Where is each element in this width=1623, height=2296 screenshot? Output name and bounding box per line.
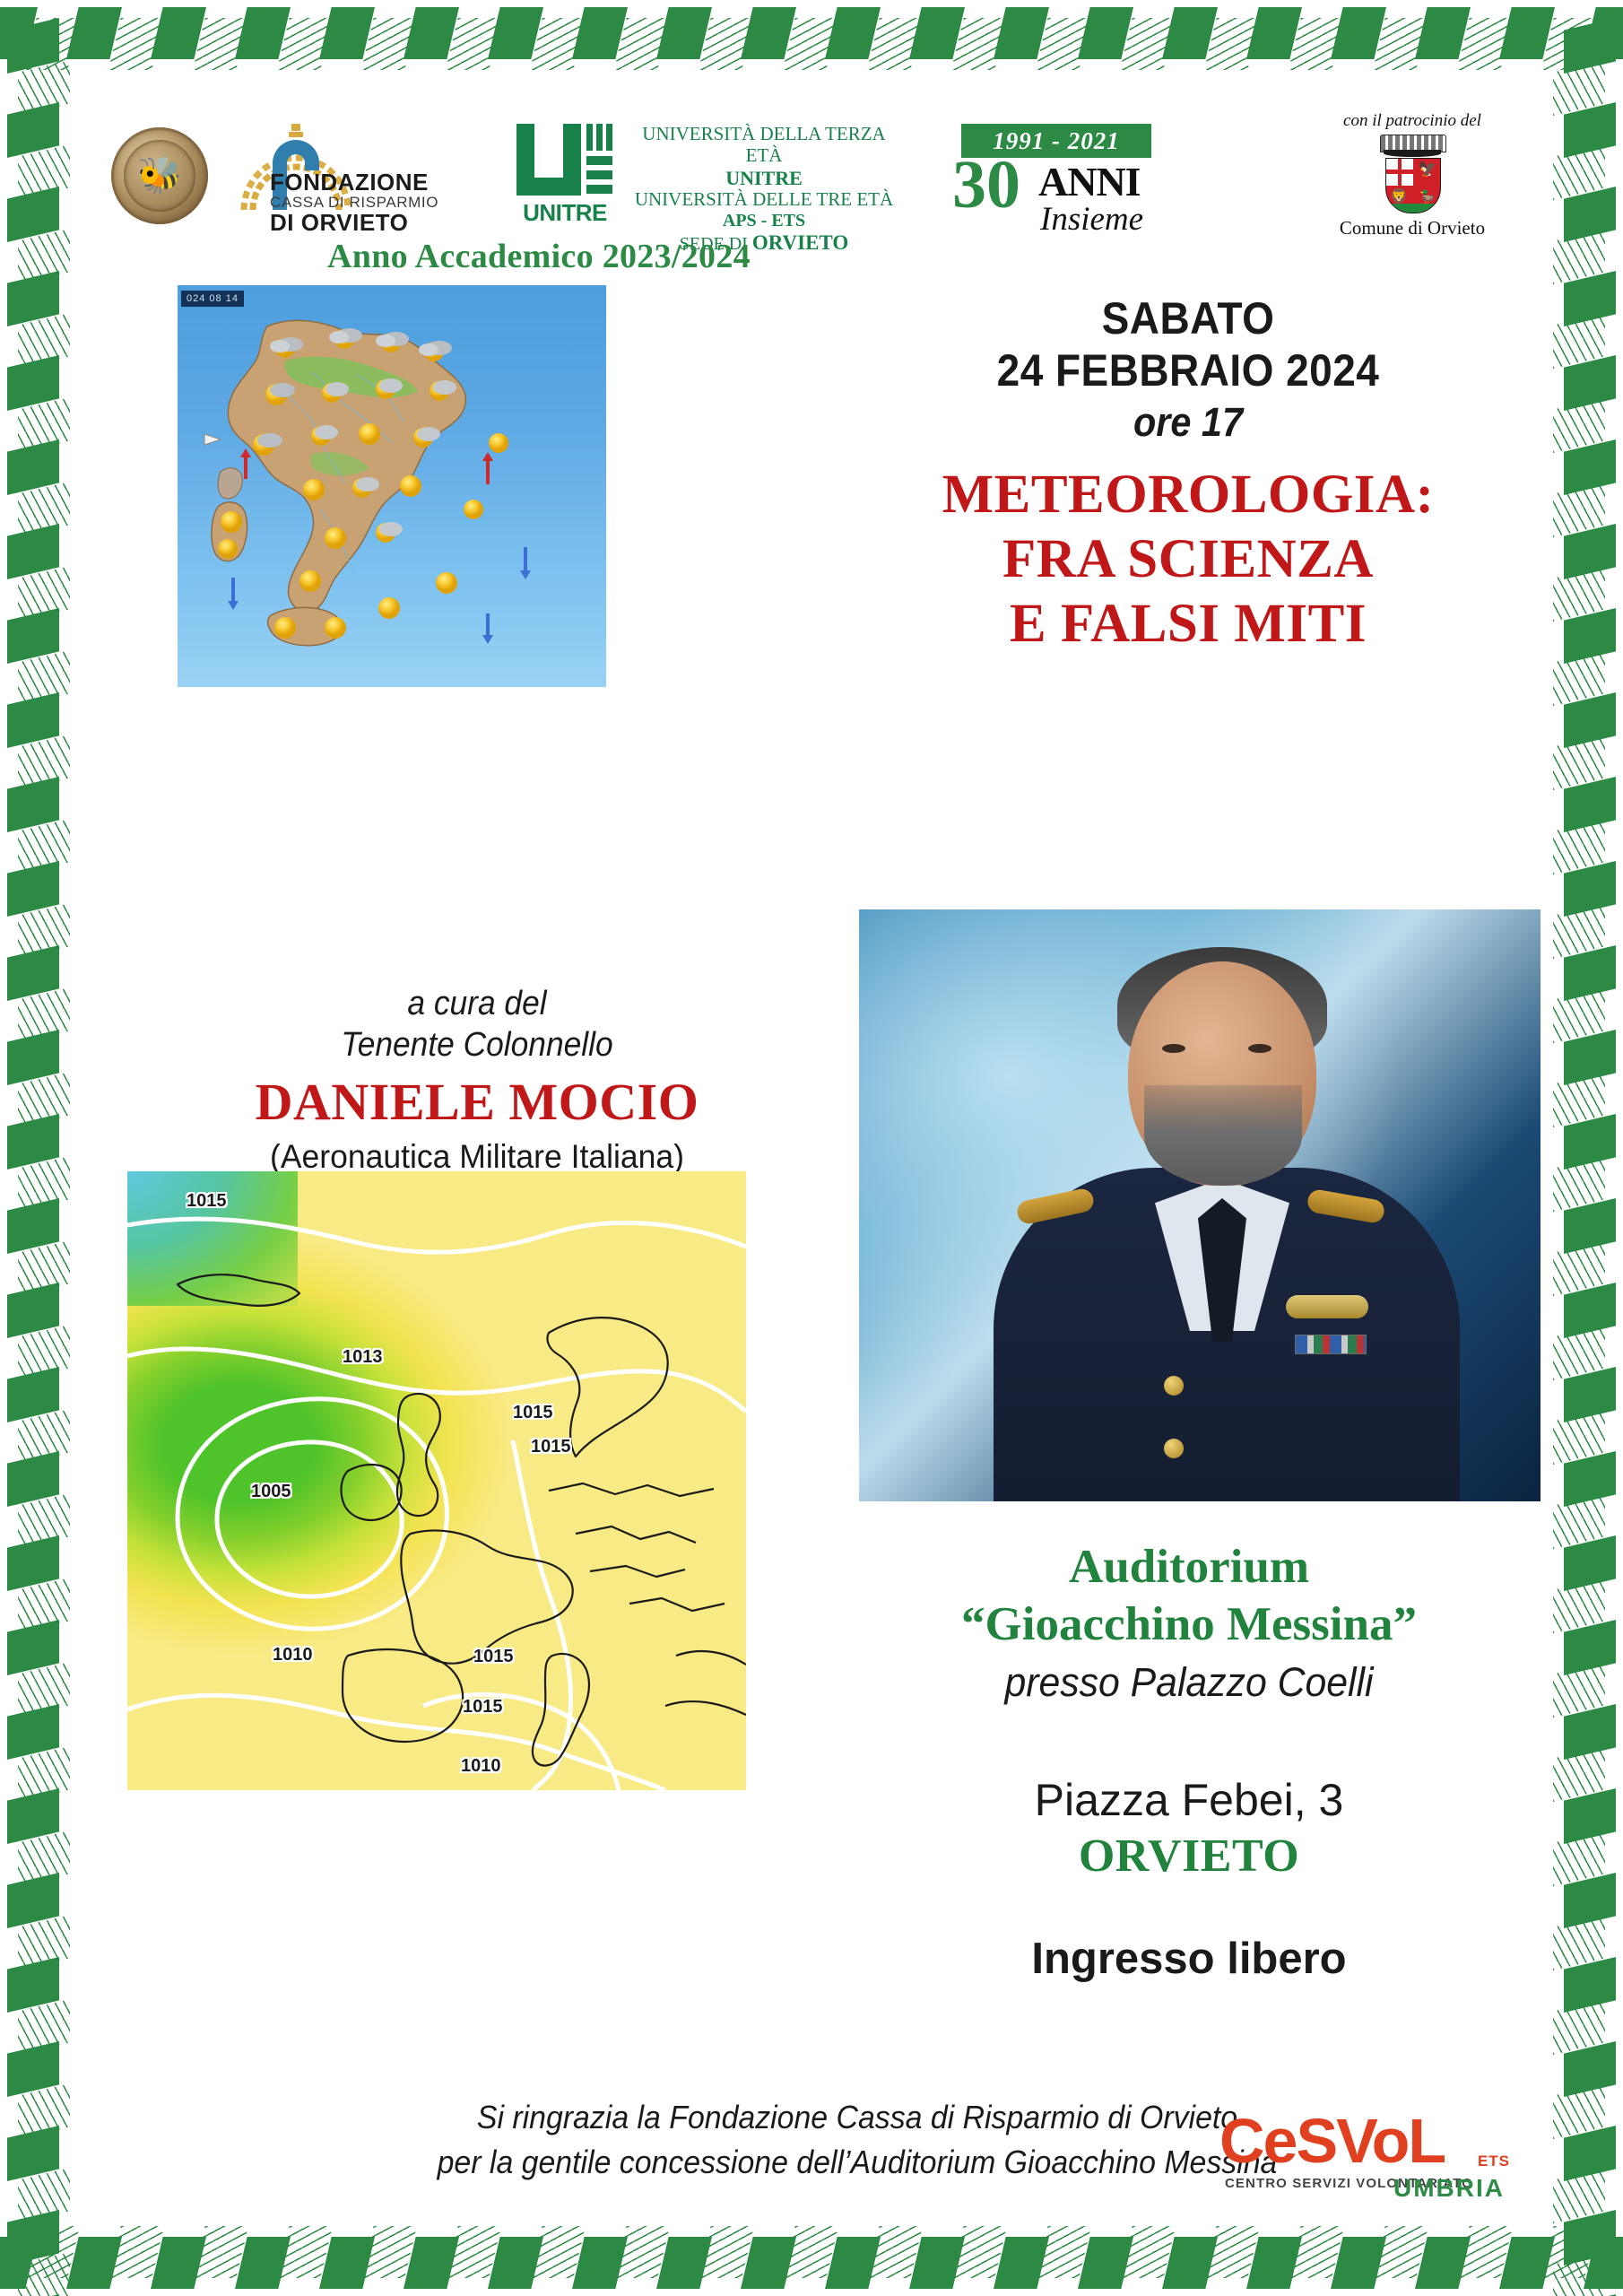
unitre-line3: UNIVERSITÀ DELLE TRE ETÀ [624, 189, 904, 211]
border-left [0, 0, 75, 2296]
unitre-logo: UNITRE [515, 122, 615, 230]
cesvol-ets: ETS [1478, 2152, 1510, 2170]
event-title-line3: E FALSI MITI [839, 592, 1537, 657]
fondazione-line1: FONDAZIONE [270, 170, 438, 195]
anniversary-anni: ANNI [1038, 161, 1141, 203]
venue-address: Piazza Febei, 3 ORVIETO [830, 1772, 1548, 1885]
academic-year: Anno Accademico 2023/2024 [86, 237, 992, 276]
sponsor-logo-row: 🐝 FONDAZIONE CASSA DI [86, 111, 1537, 228]
border-right [1548, 0, 1623, 2296]
isobar-label: 1015 [463, 1697, 503, 1718]
unitre-line1: UNIVERSITÀ DELLA TERZA ETÀ [624, 124, 904, 167]
speaker-portrait-image [859, 909, 1541, 1501]
event-title-line1: METEOROLOGIA: [839, 463, 1537, 527]
patronage-entity: Comune di Orvieto [1300, 217, 1524, 239]
unitre-fulltext: UNIVERSITÀ DELLA TERZA ETÀ UNITRE UNIVER… [624, 124, 904, 255]
event-title: METEOROLOGIA: FRA SCIENZA E FALSI MITI [839, 463, 1537, 657]
unitre-wordmark: UNITRE [515, 199, 615, 227]
event-time: ore 17 [867, 396, 1509, 449]
speaker-intro-line2: Tenente Colonnello [161, 1024, 794, 1065]
italy-weather-map-image: 024 08 14 [178, 285, 606, 687]
cesvol-logo: CeSVoL ETS CENTRO SERVIZI VOLONTARIATO U… [1219, 2097, 1515, 2205]
event-title-line2: FRA SCIENZA [839, 527, 1537, 592]
venue-name-line1: Auditorium [830, 1539, 1548, 1596]
cesvol-region: UMBRIA [1393, 2174, 1505, 2203]
event-weekday: SABATO [867, 292, 1509, 344]
border-chevron [1553, 2252, 1605, 2296]
entry-notice: Ingresso libero [830, 1934, 1548, 1984]
patronage-caption: con il patrocinio del [1300, 111, 1524, 131]
fondazione-line3: DI ORVIETO [270, 211, 438, 235]
poster-root: 🐝 FONDAZIONE CASSA DI [0, 0, 1623, 2296]
venue-block: Auditorium “Gioacchino Messina” presso P… [830, 1539, 1548, 1709]
patronage-block: con il patrocinio del 🦅 🦁 🦆 Comune di Or… [1300, 111, 1524, 239]
venue-street: Piazza Febei, 3 [830, 1772, 1548, 1828]
anniversary-number: 30 [952, 151, 1020, 219]
border-bottom [0, 2221, 1623, 2296]
cesvol-wordmark: CeSVoL [1219, 2109, 1445, 2172]
venue-name-line2: “Gioacchino Messina” [830, 1596, 1548, 1654]
event-date: 24 FEBBRAIO 2024 [867, 344, 1509, 396]
speaker-name: DANIELE MOCIO [136, 1070, 818, 1135]
border-chevron [18, 2252, 70, 2296]
border-top [0, 0, 1623, 75]
speaker-block: a cura del Tenente Colonnello DANIELE MO… [136, 983, 818, 1178]
isobar-label: 1013 [343, 1347, 383, 1368]
isobar-label: 1015 [473, 1647, 514, 1667]
isobar-label: 1010 [461, 1756, 501, 1777]
venue-location: presso Palazzo Coelli [848, 1657, 1530, 1709]
isobar-label: 1005 [251, 1482, 291, 1502]
speaker-intro-line1: a cura del [161, 983, 794, 1024]
poster-content: 🐝 FONDAZIONE CASSA DI [86, 86, 1537, 2210]
event-date-block: SABATO 24 FEBBRAIO 2024 ore 17 [839, 292, 1537, 449]
anniversary-insieme: Insieme [1040, 203, 1143, 236]
anniversary-logo: 1991 - 2021 30 ANNI Insieme [945, 124, 1160, 231]
isobar-label: 1015 [187, 1191, 227, 1212]
pressure-chart-image: 1015 1013 1015 1015 1005 1010 1015 1015 … [127, 1171, 746, 1790]
unitre-line4: APS - ETS [624, 211, 904, 231]
isobar-label: 1015 [531, 1437, 571, 1457]
fondazione-wordmark: FONDAZIONE CASSA DI RISPARMIO DI ORVIETO [270, 170, 438, 235]
venue-city: ORVIETO [830, 1828, 1548, 1885]
orvieto-crest-icon: 🦅 🦁 🦆 [1378, 135, 1446, 213]
isobar-label: 1015 [513, 1403, 553, 1423]
fondazione-medal-icon: 🐝 [111, 127, 208, 224]
unitre-line2: UNITRE [624, 167, 904, 189]
isobar-label: 1010 [273, 1645, 313, 1665]
